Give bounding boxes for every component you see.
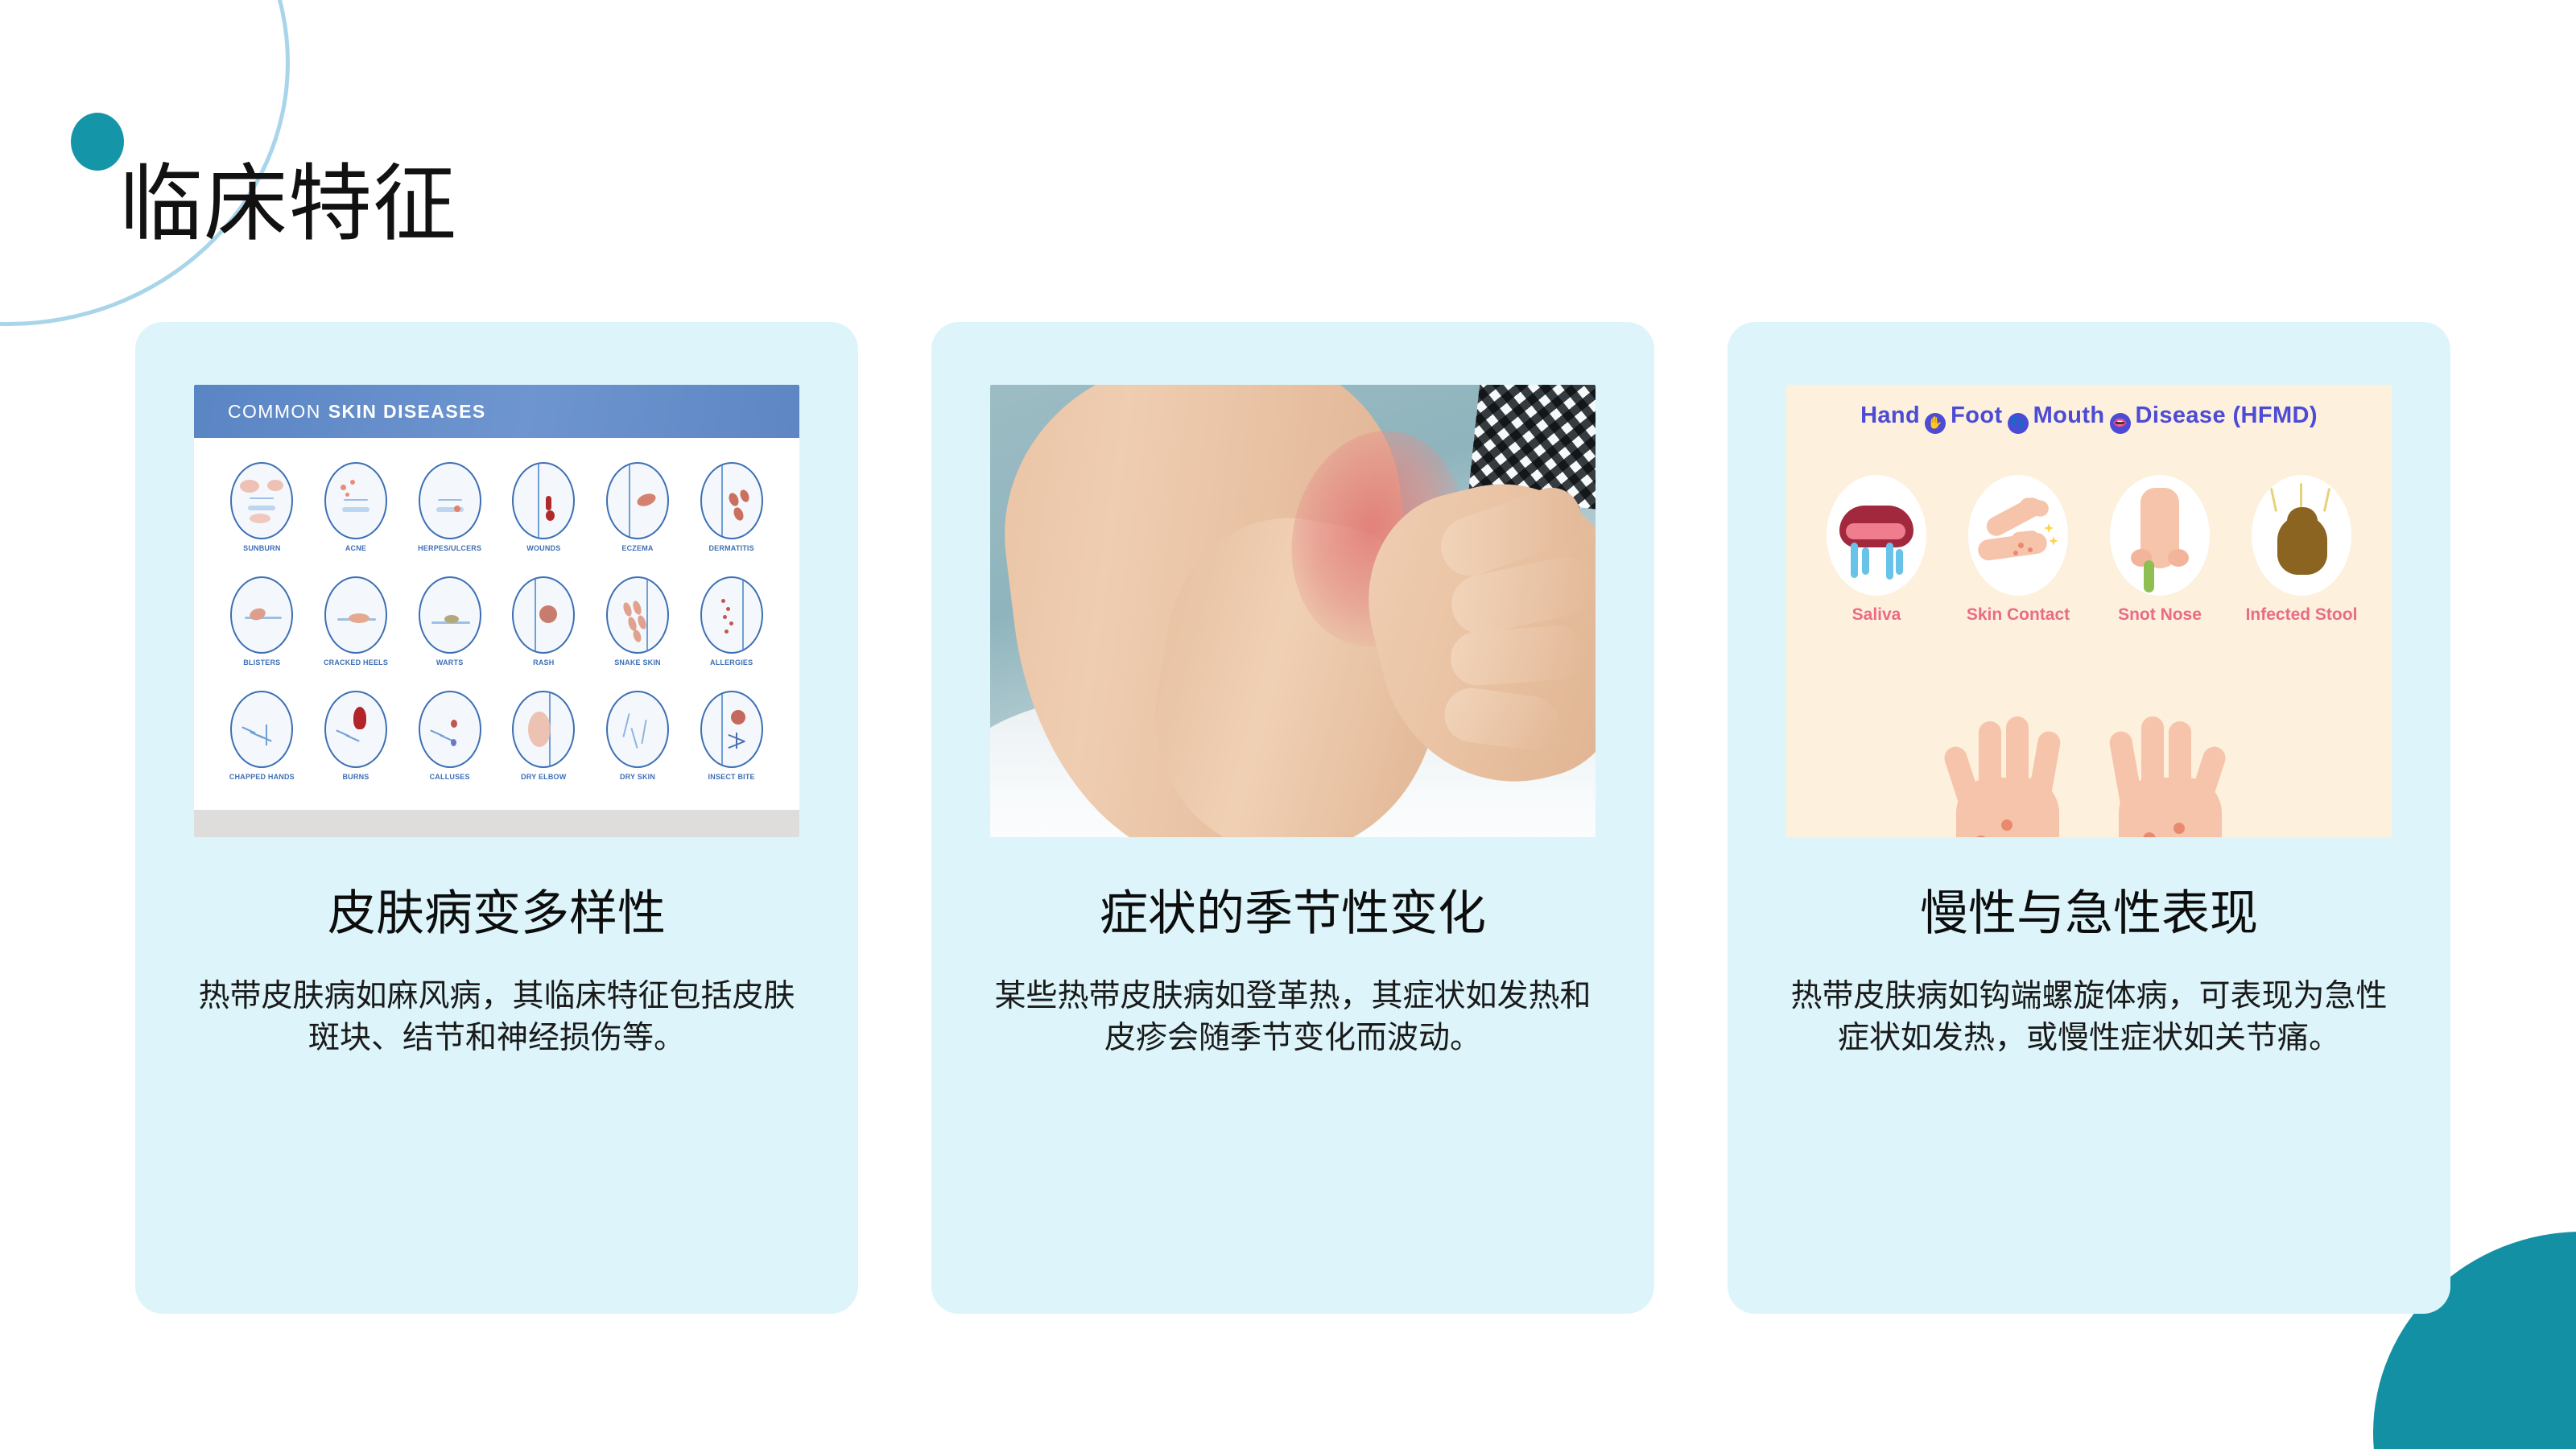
hfmd-title-foot: Foot [1951,402,2002,428]
route-label: Snot Nose [2118,605,2202,625]
card-1-heading: 皮肤病变多样性 [328,887,666,940]
eczema-icon [606,462,669,539]
saliva-icon [1827,475,1926,596]
poster-item: ALLERGIES [684,576,778,691]
card-1-media: COMMON SKIN DISEASES SUNBURN [194,385,799,837]
feature-card-1[interactable]: COMMON SKIN DISEASES SUNBURN [135,322,858,1314]
poster-item: ECZEMA [591,462,685,576]
card-2-heading: 症状的季节性变化 [1100,887,1486,940]
right-hand [2103,704,2238,837]
poster-item-label: ECZEMA [621,545,653,552]
hfmd-infographic: Hand✋Foot👣Mouth👄Disease (HFMD) S [1786,385,2392,837]
poster-item-label: ACNE [345,545,366,552]
poster-item-label: SNAKE SKIN [614,659,661,667]
poster-item: BURNS [309,691,403,805]
poster-item-label: CALLUSES [430,774,470,781]
mouth-icon: 👄 [2110,413,2131,434]
hfmd-title-disease: Disease (HFMD) [2136,402,2318,428]
poster-item-label: CRACKED HEELS [324,659,388,667]
card-2-media [990,385,1596,837]
dermatitis-icon [700,462,763,539]
poster-item-label: RASH [533,659,554,667]
insect-bite-icon [700,691,763,768]
hfmd-title-hand: Hand [1860,402,1920,428]
route-skin-contact: Skin Contact [1958,475,2079,625]
card-grid: COMMON SKIN DISEASES SUNBURN [135,322,2450,1314]
infected-stool-icon [2252,475,2351,596]
rash-icon [512,576,575,654]
card-3-body: 热带皮肤病如钩端螺旋体病，可表现为急性症状如发热，或慢性症状如关节痛。 [1785,976,2393,1059]
poster-item-label: DERMATITIS [708,545,753,552]
snake-skin-icon [606,576,669,654]
poster-banner-prefix: COMMON [228,401,321,423]
poster-item-label: HERPES/ULCERS [418,545,481,552]
blisters-icon [230,576,293,654]
sunburn-icon [230,462,293,539]
route-label: Skin Contact [1967,605,2070,625]
feature-card-3[interactable]: Hand✋Foot👣Mouth👄Disease (HFMD) S [1728,322,2450,1314]
poster-item: INSECT BITE [684,691,778,805]
poster-item-label: DRY ELBOW [521,774,566,781]
poster-item: DRY ELBOW [497,691,591,805]
slide-root: 临床特征 COMMON SKIN DISEASES [0,0,2576,1449]
skin-contact-icon [1968,475,2068,596]
route-snot-nose: Snot Nose [2099,475,2220,625]
route-label: Infected Stool [2246,605,2358,625]
poster-item: SNAKE SKIN [591,576,685,691]
hfmd-title-mouth: Mouth [2033,402,2105,428]
poster-item: CRACKED HEELS [309,576,403,691]
poster-item: BLISTERS [215,576,309,691]
poster-footer-bar [194,810,799,837]
left-hand [1940,704,2075,837]
poster-item-label: BLISTERS [243,659,280,667]
poster-item: DERMATITIS [684,462,778,576]
decorative-dot-accent [71,113,124,171]
arm-rash-photo [990,385,1596,837]
transmission-routes: Saliva [1786,475,2392,625]
burns-icon [324,691,387,768]
route-label: Saliva [1852,605,1901,625]
poster-grid: SUNBURN ACNE HERPES/ULCERS [194,438,799,810]
acne-icon [324,462,387,539]
poster-item: CALLUSES [402,691,497,805]
poster-item: HERPES/ULCERS [402,462,497,576]
warts-icon [419,576,481,654]
route-saliva: Saliva [1816,475,1937,625]
dry-skin-icon [606,691,669,768]
poster-item: RASH [497,576,591,691]
poster-item-label: WOUNDS [526,545,560,552]
poster-banner-bold: SKIN DISEASES [328,401,486,423]
poster-item-label: INSECT BITE [708,774,755,781]
poster-item-label: CHAPPED HANDS [229,774,295,781]
rash-hands-illustration [1786,704,2392,837]
calluses-icon [419,691,481,768]
wounds-icon [512,462,575,539]
herpes-ulcers-icon [419,462,481,539]
poster-item: WOUNDS [497,462,591,576]
card-3-heading: 慢性与急性表现 [1920,887,2258,940]
card-2-body: 某些热带皮肤病如登革热，其症状如发热和皮疹会随季节变化而波动。 [989,976,1597,1059]
chapped-hands-icon [230,691,293,768]
foot-icon: 👣 [2008,413,2029,434]
route-infected-stool: Infected Stool [2241,475,2362,625]
poster-item-label: DRY SKIN [620,774,655,781]
poster-item-label: SUNBURN [243,545,280,552]
page-title: 临床特征 [119,161,457,249]
feature-card-2[interactable]: 症状的季节性变化 某些热带皮肤病如登革热，其症状如发热和皮疹会随季节变化而波动。 [931,322,1654,1314]
poster-item-label: ALLERGIES [710,659,753,667]
card-1-body: 热带皮肤病如麻风病，其临床特征包括皮肤斑块、结节和神经损伤等。 [192,976,801,1059]
poster-item-label: WARTS [436,659,464,667]
hand-icon: ✋ [1925,413,1946,434]
allergies-icon [700,576,763,654]
poster-item-label: BURNS [342,774,369,781]
common-skin-diseases-infographic: COMMON SKIN DISEASES SUNBURN [194,385,799,837]
dry-elbow-icon [512,691,575,768]
snot-nose-icon [2110,475,2210,596]
poster-item: ACNE [309,462,403,576]
hfmd-title: Hand✋Foot👣Mouth👄Disease (HFMD) [1786,402,2392,434]
poster-item: CHAPPED HANDS [215,691,309,805]
poster-item: DRY SKIN [591,691,685,805]
card-3-media: Hand✋Foot👣Mouth👄Disease (HFMD) S [1786,385,2392,837]
cracked-heels-icon [324,576,387,654]
poster-banner: COMMON SKIN DISEASES [194,385,799,438]
poster-item: SUNBURN [215,462,309,576]
poster-item: WARTS [402,576,497,691]
